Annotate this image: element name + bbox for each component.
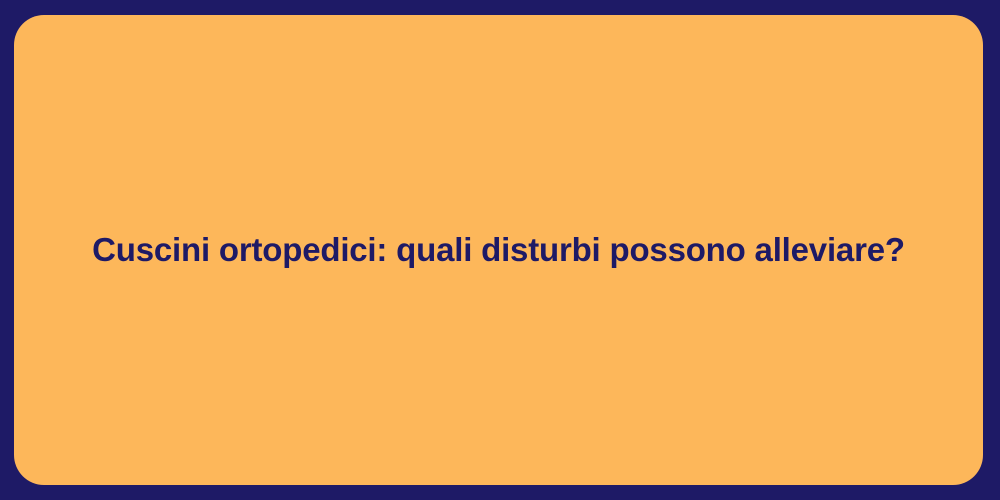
page-title: Cuscini ortopedici: quali disturbi posso… — [92, 229, 905, 270]
hero-card: Cuscini ortopedici: quali disturbi posso… — [14, 15, 983, 485]
page-frame: Cuscini ortopedici: quali disturbi posso… — [0, 0, 1000, 500]
